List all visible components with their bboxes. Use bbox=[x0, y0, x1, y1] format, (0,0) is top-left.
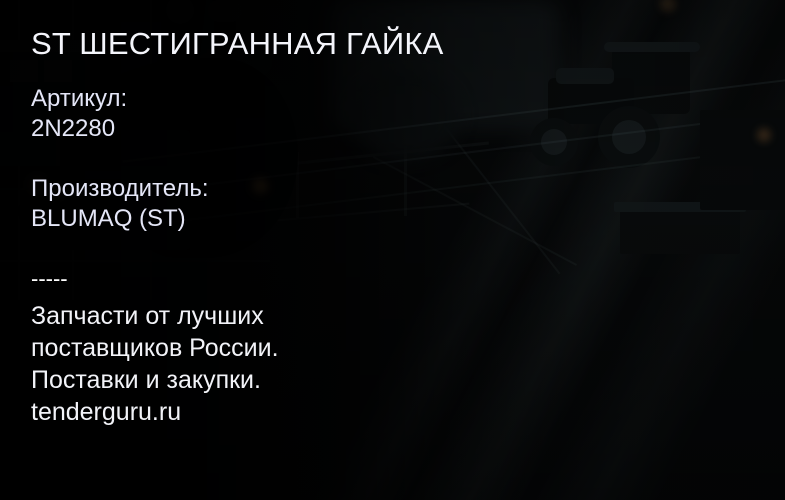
promo-block: Запчасти от лучших поставщиков России. П… bbox=[31, 300, 279, 428]
promo-line-3: Поставки и закупки. bbox=[31, 364, 279, 396]
field-article-value: 2N2280 bbox=[31, 114, 127, 144]
promo-site-url: tenderguru.ru bbox=[31, 396, 279, 428]
field-manufacturer: Производитель: BLUMAQ (ST) bbox=[31, 174, 209, 234]
promo-line-2: поставщиков России. bbox=[31, 332, 279, 364]
field-article: Артикул: 2N2280 bbox=[31, 84, 127, 144]
field-article-label: Артикул: bbox=[31, 84, 127, 114]
field-manufacturer-label: Производитель: bbox=[31, 174, 209, 204]
field-manufacturer-value: BLUMAQ (ST) bbox=[31, 204, 209, 234]
product-banner: ST ШЕСТИГРАННАЯ ГАЙКА Артикул: 2N2280 Пр… bbox=[0, 0, 785, 500]
separator-dashes: ----- bbox=[31, 268, 68, 290]
banner-content: ST ШЕСТИГРАННАЯ ГАЙКА Артикул: 2N2280 Пр… bbox=[31, 0, 551, 500]
product-title: ST ШЕСТИГРАННАЯ ГАЙКА bbox=[31, 27, 443, 61]
promo-line-1: Запчасти от лучших bbox=[31, 300, 279, 332]
